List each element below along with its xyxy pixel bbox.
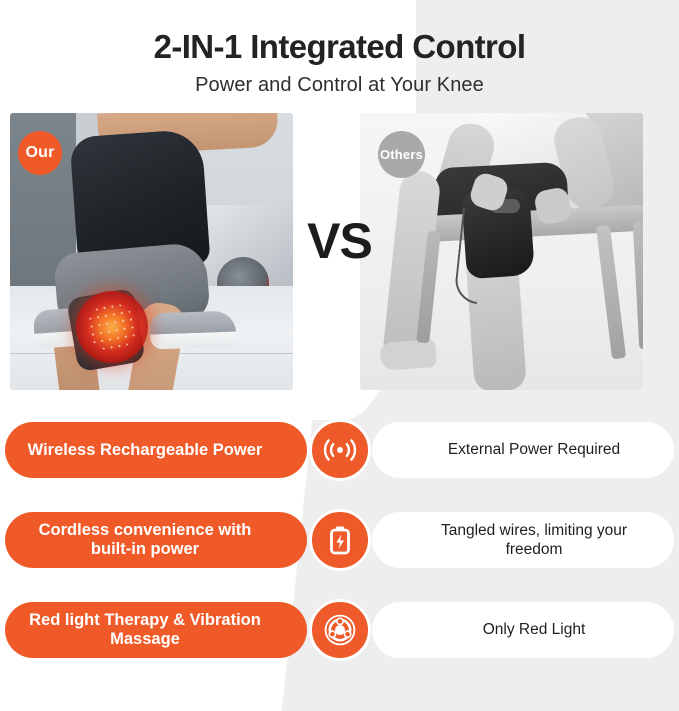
wireless-signal-icon	[309, 419, 371, 481]
vs-label: VS	[0, 212, 679, 270]
page-subtitle: Power and Control at Your Knee	[0, 66, 679, 97]
our-feature-pill: Cordless convenience with built-in power	[5, 512, 307, 568]
comparison-row: Wireless Rechargeable Power External Pow…	[0, 422, 679, 484]
others-feature-pill: Tangled wires, limiting your freedom	[372, 512, 674, 568]
page-title: 2-IN-1 Integrated Control	[0, 0, 679, 66]
athlete-shoe-right	[149, 311, 236, 350]
our-badge: Our	[18, 131, 62, 175]
red-light-led-dots	[84, 299, 140, 355]
others-badge: Others	[378, 131, 425, 178]
others-feature-pill: Only Red Light	[372, 602, 674, 658]
header: 2-IN-1 Integrated Control Power and Cont…	[0, 0, 679, 110]
person-far-foot	[379, 339, 437, 371]
others-feature-pill: External Power Required	[372, 422, 674, 478]
comparison-row: Cordless convenience with built-in power…	[0, 512, 679, 574]
comparison-row: Red light Therapy & Vibration Massage On…	[0, 602, 679, 664]
our-feature-pill: Wireless Rechargeable Power	[5, 422, 307, 478]
vibration-massage-icon	[309, 599, 371, 661]
our-feature-pill: Red light Therapy & Vibration Massage	[5, 602, 307, 658]
product-comparison-infographic: 2-IN-1 Integrated Control Power and Cont…	[0, 0, 679, 711]
comparison-rows: Wireless Rechargeable Power External Pow…	[0, 422, 679, 692]
battery-bolt-icon	[309, 509, 371, 571]
